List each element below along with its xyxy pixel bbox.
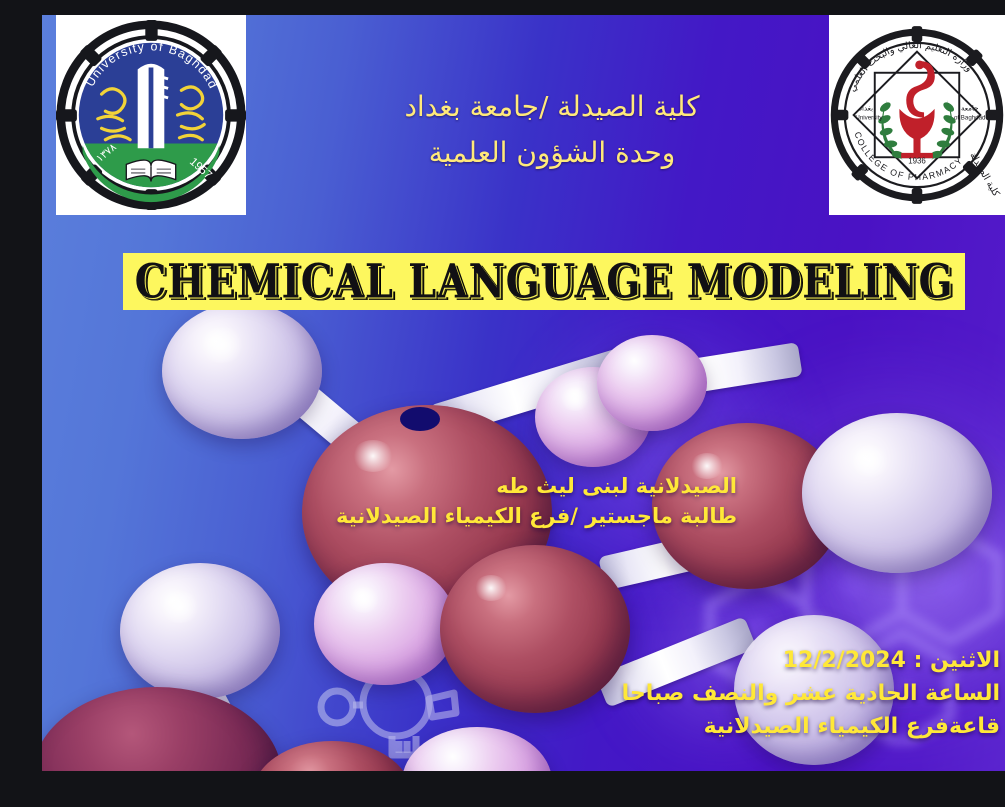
atom-carbon <box>440 545 630 713</box>
presenter-affiliation: طالبة ماجستير /فرع الكيمياء الصيدلانية <box>336 502 737 531</box>
svg-text:University: University <box>855 114 883 121</box>
schedule-date: الاثنين : 12/2/2024 <box>783 646 1000 676</box>
header-line-unit: وحدة الشؤون العلمية <box>342 133 762 173</box>
atom-hydrogen <box>120 563 280 699</box>
atom-carbon <box>42 687 282 771</box>
presentation-title: CHEMICAL LANGUAGE MODELING <box>135 254 954 309</box>
college-of-pharmacy-logo: وزارة التعليم العالي والبحث العلمي COLLE… <box>829 15 1005 215</box>
screenshot-canvas: University of Baghdad <box>0 0 1005 807</box>
atom-hydrogen <box>162 303 322 439</box>
college-of-pharmacy-seal-icon: وزارة التعليم العالي والبحث العلمي COLLE… <box>829 15 1005 215</box>
atom-hydrogen <box>597 335 707 431</box>
schedule-time: الساعة الحادية عشر والنصف صباحا <box>622 679 1000 709</box>
bond-socket <box>400 407 440 431</box>
university-of-baghdad-seal-icon: University of Baghdad <box>56 15 246 215</box>
svg-text:1936: 1936 <box>908 156 926 165</box>
presentation-slide: University of Baghdad <box>42 15 1005 771</box>
svg-text:بغداد: بغداد <box>859 104 873 113</box>
header-line-college: كلية الصيدلة /جامعة بغداد <box>342 87 762 127</box>
atom-hydrogen <box>314 563 456 685</box>
schedule-venue: قاعةفرع الكيمياء الصيدلانية <box>704 712 1000 742</box>
presenter-name: الصيدلانية لبنى ليث طه <box>496 472 737 501</box>
svg-text:of Baghdad: of Baghdad <box>954 114 986 121</box>
atom-hydrogen <box>802 413 992 573</box>
atom-carbon <box>252 741 412 771</box>
title-banner: CHEMICAL LANGUAGE MODELING <box>123 253 965 310</box>
atom-hydrogen <box>402 727 552 771</box>
svg-text:جامعة: جامعة <box>961 104 978 113</box>
university-of-baghdad-logo: University of Baghdad <box>56 15 246 215</box>
